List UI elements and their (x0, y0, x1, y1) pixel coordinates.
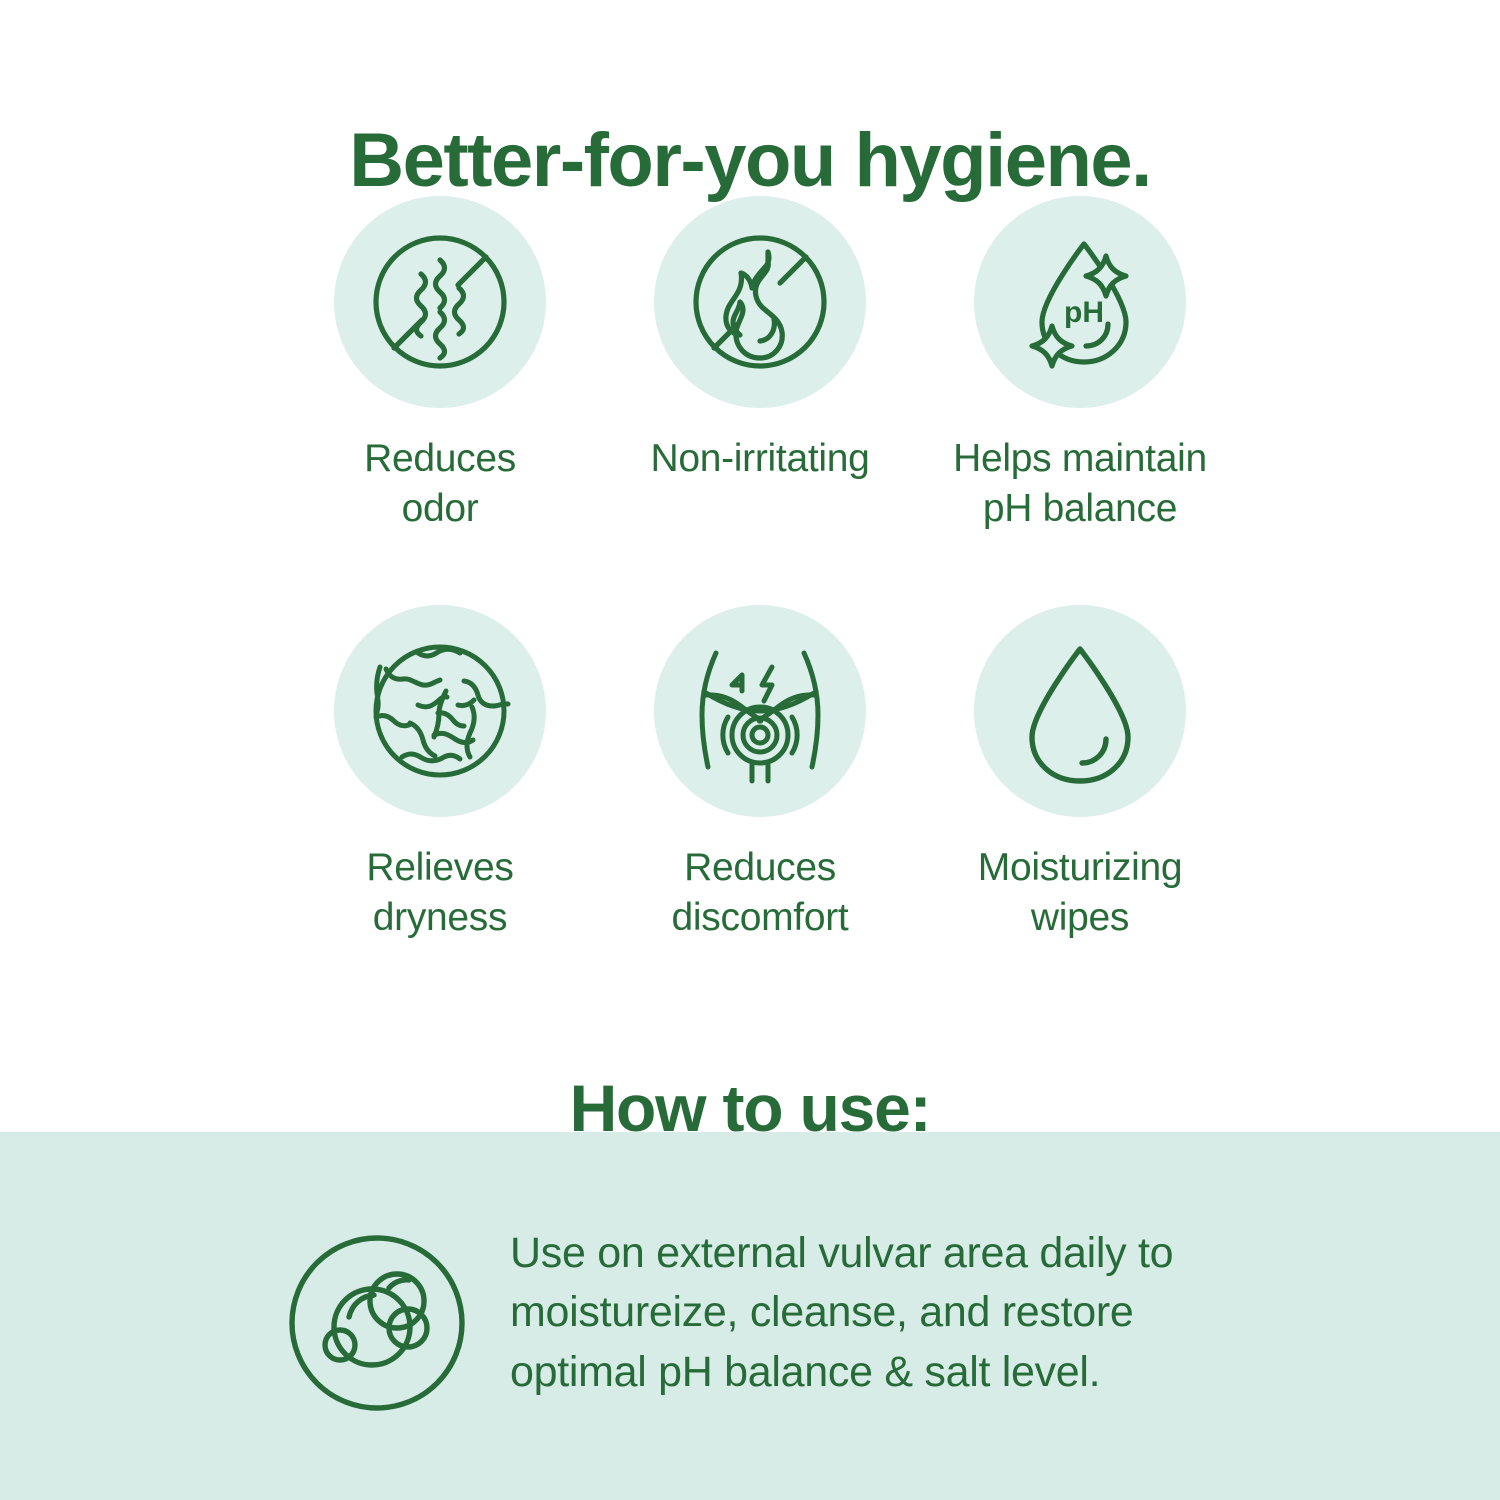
droplet-icon (1000, 631, 1160, 791)
benefit-non-irritating: Non-irritating (600, 196, 920, 533)
benefit-label: Reduces discomfort (672, 843, 849, 942)
benefits-grid: Reduces odor Non-irritating (280, 196, 1240, 942)
ph-droplet-icon: pH (1000, 222, 1160, 382)
how-to-use-content: Use on external vulvar area daily to moi… (286, 1224, 1173, 1414)
benefit-icon-badge (334, 605, 546, 817)
bubbles-icon (286, 1232, 468, 1414)
benefit-label: Reduces odor (364, 434, 516, 533)
no-flame-icon (680, 222, 840, 382)
benefit-icon-badge (654, 196, 866, 408)
infographic-page: Better-for-you hygiene. Reduces od (0, 0, 1500, 1500)
page-title: Better-for-you hygiene. (0, 123, 1500, 199)
dry-skin-icon (360, 631, 520, 791)
no-odor-icon (360, 222, 520, 382)
how-to-use-heading: How to use: (0, 1075, 1500, 1141)
benefit-label: Helps maintain pH balance (953, 434, 1207, 533)
benefit-reduces-odor: Reduces odor (280, 196, 600, 533)
benefit-icon-badge: pH (974, 196, 1186, 408)
benefit-icon-badge (654, 605, 866, 817)
ph-icon-label: pH (1064, 296, 1104, 329)
pelvic-discomfort-icon (680, 631, 840, 791)
benefit-label: Relieves dryness (366, 843, 513, 942)
benefit-label: Non-irritating (650, 434, 869, 484)
benefit-reduces-discomfort: Reduces discomfort (600, 605, 920, 942)
how-to-use-instructions: Use on external vulvar area daily to moi… (510, 1224, 1173, 1402)
how-to-use-band: Use on external vulvar area daily to moi… (0, 1132, 1500, 1500)
benefit-moisturizing-wipes: Moisturizing wipes (920, 605, 1240, 942)
benefit-icon-badge (334, 196, 546, 408)
benefit-relieves-dryness: Relieves dryness (280, 605, 600, 942)
benefit-label: Moisturizing wipes (978, 843, 1182, 942)
benefit-ph-balance: pH Helps maintain pH balance (920, 196, 1240, 533)
benefit-icon-badge (974, 605, 1186, 817)
